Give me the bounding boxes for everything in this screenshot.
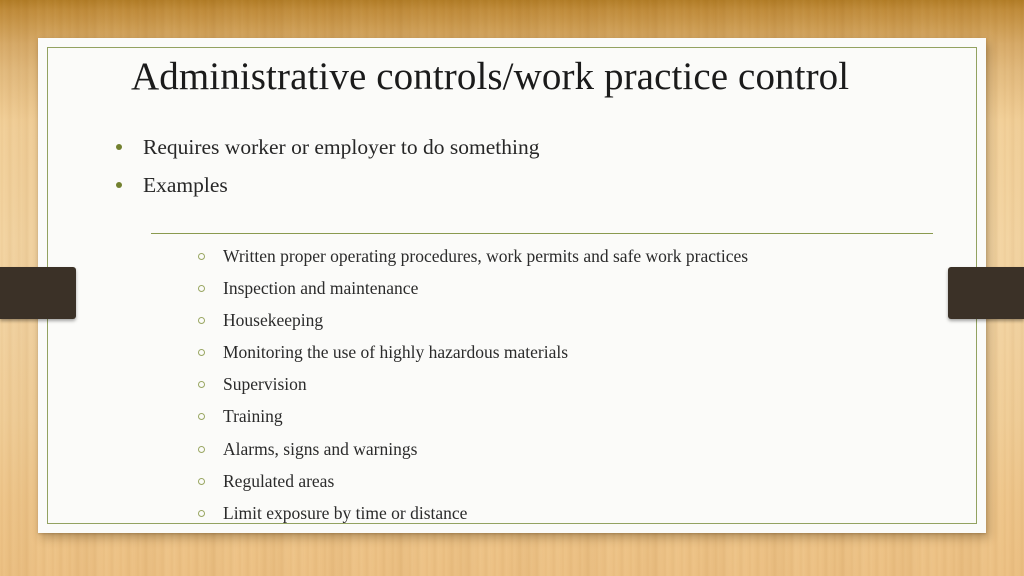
- bullet-list: Requires worker or employer to do someth…: [113, 137, 973, 212]
- bullet-item: Requires worker or employer to do someth…: [113, 137, 973, 159]
- sub-bullet-item: Housekeeping: [195, 312, 975, 330]
- sub-bullet-item: Written proper operating procedures, wor…: [195, 248, 975, 266]
- hollow-circle-icon: [198, 446, 205, 453]
- hollow-circle-icon: [198, 381, 205, 388]
- bullet-dot-icon: [116, 182, 122, 188]
- sub-bullet-label: Regulated areas: [223, 471, 334, 491]
- hollow-circle-icon: [198, 285, 205, 292]
- sub-bullet-label: Alarms, signs and warnings: [223, 439, 417, 459]
- bullet-dot-icon: [116, 144, 122, 150]
- sub-bullet-item: Monitoring the use of highly hazardous m…: [195, 344, 975, 362]
- sub-bullet-item: Inspection and maintenance: [195, 280, 975, 298]
- slide-card: Administrative controls/work practice co…: [38, 38, 986, 533]
- sub-bullet-label: Supervision: [223, 374, 307, 394]
- sub-bullet-item: Alarms, signs and warnings: [195, 441, 975, 459]
- hollow-circle-icon: [198, 413, 205, 420]
- hollow-circle-icon: [198, 349, 205, 356]
- sub-bullet-label: Inspection and maintenance: [223, 278, 418, 298]
- hollow-circle-icon: [198, 510, 205, 517]
- sub-bullet-item: Limit exposure by time or distance: [195, 505, 975, 523]
- slide-content: Administrative controls/work practice co…: [38, 38, 986, 533]
- bullet-item: Examples: [113, 175, 973, 197]
- sub-bullet-label: Limit exposure by time or distance: [223, 503, 467, 523]
- examples-divider: [151, 233, 933, 234]
- sub-bullet-item: Supervision: [195, 376, 975, 394]
- sub-bullet-item: Regulated areas: [195, 473, 975, 491]
- sub-bullet-label: Written proper operating procedures, wor…: [223, 246, 748, 266]
- sub-bullet-list: Written proper operating procedures, wor…: [195, 248, 975, 537]
- right-decorative-tab: [948, 267, 1024, 319]
- sub-bullet-label: Training: [223, 406, 283, 426]
- sub-bullet-label: Housekeeping: [223, 310, 323, 330]
- left-decorative-tab: [0, 267, 76, 319]
- slide-title: Administrative controls/work practice co…: [131, 55, 961, 99]
- bullet-label: Requires worker or employer to do someth…: [143, 135, 539, 159]
- bullet-label: Examples: [143, 173, 228, 197]
- hollow-circle-icon: [198, 253, 205, 260]
- hollow-circle-icon: [198, 317, 205, 324]
- sub-bullet-label: Monitoring the use of highly hazardous m…: [223, 342, 568, 362]
- sub-bullet-item: Training: [195, 408, 975, 426]
- hollow-circle-icon: [198, 478, 205, 485]
